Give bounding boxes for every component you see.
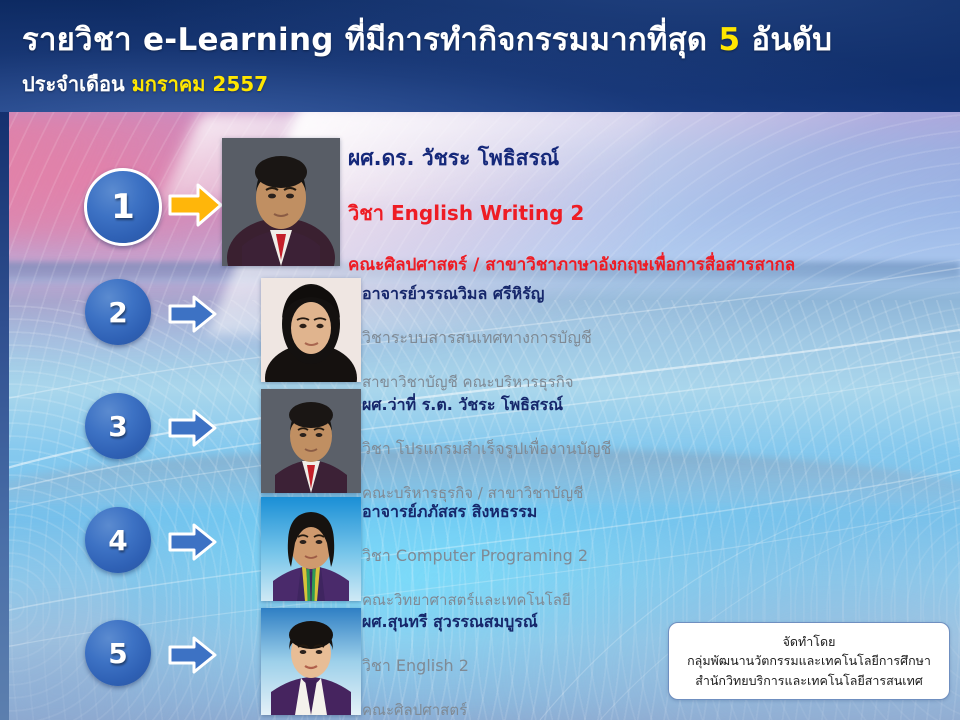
page-title: รายวิชา e-Learning ที่มีการทำกิจกรรมมากท…	[22, 14, 832, 64]
arrow-icon-1	[168, 180, 224, 230]
slide-canvas: รายวิชา e-Learning ที่มีการทำกิจกรรมมากท…	[0, 0, 960, 720]
faculty-name-5: คณะศิลปศาสตร์	[362, 698, 538, 720]
rank-number-3: 3	[108, 410, 127, 443]
info-block-5: ผศ.สุนทรี สุวรรณสมบูรณ์ วิชา English 2 ค…	[362, 610, 538, 720]
course-name-5: วิชา English 2	[362, 654, 538, 679]
info-block-3: ผศ.ว่าที่ ร.ต. วัชระ โพธิสรณ์ วิชา โปรแก…	[362, 393, 611, 505]
course-name-4: วิชา Computer Programing 2	[362, 544, 588, 569]
rank-number-5: 5	[108, 637, 127, 670]
instructor-name-2: อาจารย์วรรณวิมล ศรีหิรัญ	[362, 282, 592, 307]
portrait-5	[261, 608, 361, 715]
credit-line-3: สำนักวิทยบริการและเทคโนโลยีสารสนเทศ	[695, 671, 923, 690]
rank-badge-3: 3	[85, 393, 151, 459]
instructor-name-3: ผศ.ว่าที่ ร.ต. วัชระ โพธิสรณ์	[362, 393, 611, 418]
portrait-1	[222, 138, 340, 266]
rank-badge-2: 2	[85, 279, 151, 345]
credit-box: จัดทำโดย กลุ่มพัฒนานวัตกรรมและเทคโนโลยีก…	[668, 622, 950, 700]
faculty-name-4: คณะวิทยาศาสตร์และเทคโนโลยี	[362, 588, 588, 612]
page-title-prefix: รายวิชา e-Learning ที่มีการทำกิจกรรมมากท…	[22, 22, 718, 58]
page-subtitle-highlight: มกราคม 2557	[132, 72, 268, 96]
arrow-icon-2	[168, 293, 218, 335]
faculty-name-1: คณะศิลปศาสตร์ / สาขาวิชาภาษาอังกฤษเพื่อก…	[348, 251, 795, 278]
info-block-4: อาจารย์ภภัสสร สิงหธรรม วิชา Computer Pro…	[362, 500, 588, 612]
credit-line-1: จัดทำโดย	[783, 632, 836, 651]
page-title-suffix: อันดับ	[740, 22, 832, 58]
course-name-3: วิชา โปรแกรมสำเร็จรูปเพื่องานบัญชี	[362, 437, 611, 462]
rank-badge-1: 1	[84, 168, 162, 246]
portrait-3	[261, 389, 361, 493]
instructor-name-5: ผศ.สุนทรี สุวรรณสมบูรณ์	[362, 610, 538, 635]
credit-line-2: กลุ่มพัฒนานวัตกรรมและเทคโนโลยีการศึกษา	[687, 651, 931, 670]
rank-number-2: 2	[108, 296, 127, 329]
rank-number-1: 1	[111, 187, 135, 227]
instructor-name-4: อาจารย์ภภัสสร สิงหธรรม	[362, 500, 588, 525]
rank-number-4: 4	[108, 524, 127, 557]
header-banner: รายวิชา e-Learning ที่มีการทำกิจกรรมมากท…	[0, 0, 960, 112]
instructor-name-1: ผศ.ดร. วัชระ โพธิสรณ์	[348, 142, 795, 175]
rank-badge-5: 5	[85, 620, 151, 686]
course-name-1: วิชา English Writing 2	[348, 197, 795, 229]
info-block-2: อาจารย์วรรณวิมล ศรีหิรัญ วิชาระบบสารสนเท…	[362, 282, 592, 394]
arrow-icon-5	[168, 634, 218, 676]
info-block-1: ผศ.ดร. วัชระ โพธิสรณ์ วิชา English Writi…	[348, 142, 795, 278]
faculty-name-2: สาขาวิชาบัญชี คณะบริหารธุรกิจ	[362, 370, 592, 394]
portrait-4	[261, 497, 361, 601]
page-title-highlight: 5	[718, 22, 740, 58]
page-subtitle: ประจำเดือน มกราคม 2557	[22, 68, 268, 100]
arrow-icon-3	[168, 407, 218, 449]
course-name-2: วิชาระบบสารสนเทศทางการบัญชี	[362, 326, 592, 351]
rank-badge-4: 4	[85, 507, 151, 573]
page-subtitle-prefix: ประจำเดือน	[22, 72, 132, 96]
arrow-icon-4	[168, 521, 218, 563]
portrait-2	[261, 278, 361, 382]
